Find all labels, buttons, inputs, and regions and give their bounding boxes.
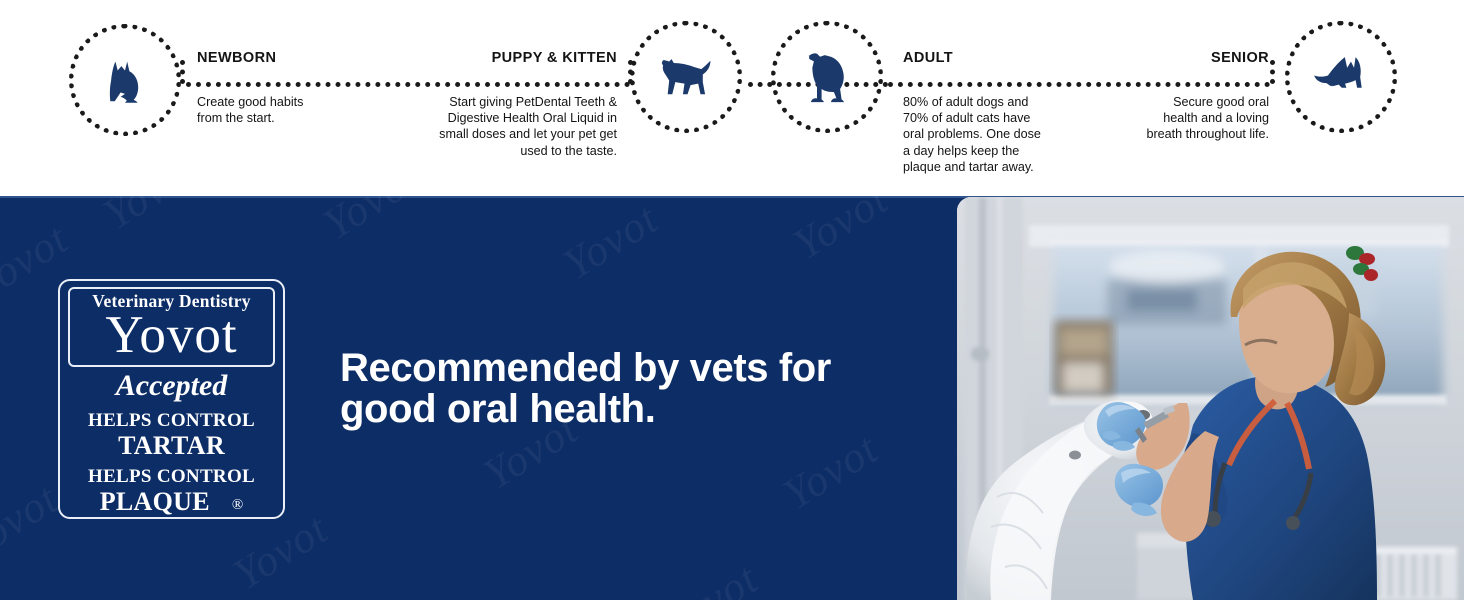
stage-label-senior: SENIOR bbox=[1115, 50, 1269, 66]
stage-label-newborn: NEWBORN bbox=[197, 50, 276, 66]
timeline-stage-puppy-kitten: PUPPY & KITTEN Start giving PetDental Te… bbox=[380, 0, 760, 196]
seal-accepted-text: Accepted bbox=[68, 368, 275, 404]
seal-brand-name: Yovot bbox=[74, 309, 269, 361]
stage-label-puppy-kitten: PUPPY & KITTEN bbox=[410, 50, 617, 66]
sitting-kitten-icon bbox=[69, 24, 181, 136]
timeline-stage-senior: SENIOR Secure good oral health and a lov… bbox=[1100, 0, 1464, 196]
life-stage-timeline: NEWBORN Create good habits from the star… bbox=[0, 0, 1464, 196]
seal-claim-1-label: HELPS CONTROL bbox=[68, 409, 275, 432]
stage-label-adult: ADULT bbox=[903, 50, 953, 66]
seal-claim-1-value: TARTAR bbox=[68, 432, 275, 460]
promo-banner: NEWBORN Create good habits from the star… bbox=[0, 0, 1464, 600]
stage-body-adult: 80% of adult dogs and 70% of adult cats … bbox=[903, 94, 1083, 175]
watermark: Yovot bbox=[774, 423, 887, 520]
timeline-stage-adult: ADULT 80% of adult dogs and 70% of adult… bbox=[760, 0, 1100, 196]
veterinary-dentistry-seal: Veterinary Dentistry Yovot Accepted HELP… bbox=[58, 279, 285, 519]
watermark: Yovot bbox=[554, 196, 667, 290]
stage-body-newborn: Create good habits from the start. bbox=[197, 94, 372, 126]
timeline-stage-newborn: NEWBORN Create good habits from the star… bbox=[0, 0, 380, 196]
seal-claim-2-label: HELPS CONTROL bbox=[68, 465, 275, 488]
watermark: Yovot bbox=[0, 473, 67, 570]
sitting-adult-dog-icon bbox=[771, 21, 883, 133]
registered-trademark-icon: ® bbox=[232, 494, 243, 516]
watermark: Yovot bbox=[654, 553, 767, 600]
veterinarian-examining-dog-teeth-photo bbox=[957, 197, 1464, 600]
seal-claim-2-row: PLAQUE ® bbox=[68, 488, 275, 516]
watermark: Yovot bbox=[314, 196, 427, 250]
page-title: Recommended by vets for good oral health… bbox=[340, 348, 880, 430]
seal-claim-2-value: PLAQUE bbox=[100, 488, 210, 516]
stage-body-puppy-kitten: Start giving PetDental Teeth & Digestive… bbox=[397, 94, 617, 159]
standing-puppy-icon bbox=[630, 21, 742, 133]
watermark: Yovot bbox=[784, 196, 897, 270]
lying-senior-dog-icon bbox=[1285, 21, 1397, 133]
stage-body-senior: Secure good oral health and a loving bre… bbox=[1109, 94, 1269, 143]
seal-brand-box: Veterinary Dentistry Yovot bbox=[68, 287, 275, 367]
watermark: Yovot bbox=[94, 196, 207, 240]
